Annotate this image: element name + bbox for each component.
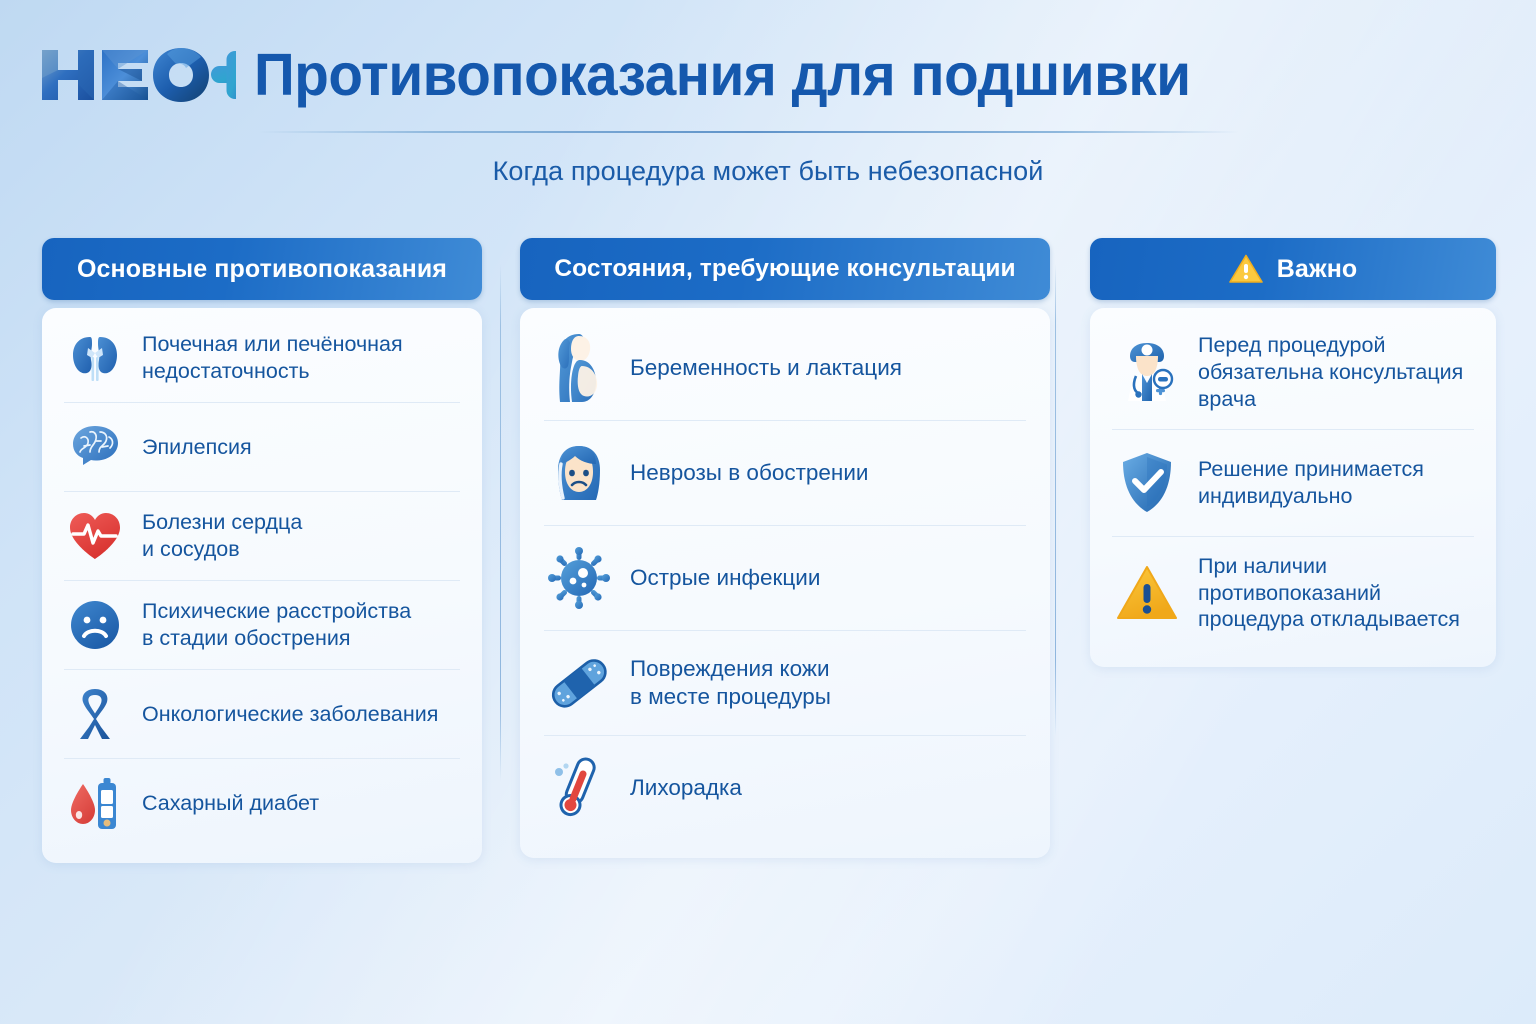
list-item-label: При наличии противопоказаний процедура о…	[1198, 553, 1460, 634]
list-item[interactable]: Острые инфекции	[544, 526, 1026, 631]
logo-letter-n	[42, 50, 94, 100]
virus-icon	[544, 541, 614, 615]
list-item-label: Психические расстройства в стадии обостр…	[142, 598, 411, 652]
list-item[interactable]: Почечная или печёночная недостаточность	[64, 314, 460, 403]
list-item[interactable]: Болезни сердца и сосудов	[64, 492, 460, 581]
logo-letter-e	[102, 50, 148, 100]
shield-check-icon	[1112, 446, 1182, 520]
list-item-label: Сахарный диабет	[142, 790, 319, 817]
list-item[interactable]: Лихорадка	[544, 736, 1026, 840]
column-3-body: Перед процедурой обязательна консультаци…	[1090, 308, 1496, 667]
page-subtitle: Когда процедура может быть небезопасной	[0, 156, 1536, 187]
brain-icon	[64, 416, 126, 478]
title-row: Противопоказания для подшивки	[36, 44, 1230, 106]
column-divider-1	[500, 264, 501, 782]
awareness-ribbon-icon	[64, 683, 126, 745]
list-item-label: Лихорадка	[630, 774, 742, 802]
list-item[interactable]: Неврозы в обострении	[544, 421, 1026, 526]
column-main-contraindications: Основные противопоказания По	[42, 238, 482, 863]
bandage-icon	[544, 646, 614, 720]
column-divider-2	[1055, 264, 1056, 736]
list-item-label: Неврозы в обострении	[630, 459, 869, 487]
columns-container: Основные противопоказания По	[0, 238, 1536, 863]
doctor-icon	[1112, 335, 1182, 409]
list-item[interactable]: Онкологические заболевания	[64, 670, 460, 759]
column-3-header: Важно	[1090, 238, 1496, 300]
title-divider-rule	[258, 131, 1238, 133]
column-2-body: Беременность и лактация	[520, 308, 1050, 858]
column-1-header: Основные противопоказания	[42, 238, 482, 300]
list-item[interactable]: Сахарный диабет	[64, 759, 460, 847]
list-item-label: Беременность и лактация	[630, 354, 902, 382]
neo-plus-logo	[36, 44, 236, 106]
column-consultation-required: Состояния, требующие консультации Береме…	[520, 238, 1050, 858]
list-item[interactable]: Эпилепсия	[64, 403, 460, 492]
list-item[interactable]: Перед процедурой обязательна консультаци…	[1112, 316, 1474, 430]
list-item[interactable]: Психические расстройства в стадии обостр…	[64, 581, 460, 670]
logo-letter-o	[153, 48, 209, 102]
warning-triangle-icon	[1229, 254, 1263, 284]
blood-glucose-meter-icon	[64, 772, 126, 834]
list-item[interactable]: Повреждения кожи в месте процедуры	[544, 631, 1026, 736]
column-1-header-label: Основные противопоказания	[77, 255, 447, 284]
column-important: Важно	[1090, 238, 1496, 667]
page-title: Противопоказания для подшивки	[254, 46, 1191, 105]
list-item-label: Решение принимается индивидуально	[1198, 456, 1424, 510]
column-2-header: Состояния, требующие консультации	[520, 238, 1050, 300]
heart-pulse-icon	[64, 505, 126, 567]
list-item-label: Болезни сердца и сосудов	[142, 509, 302, 563]
list-item[interactable]: При наличии противопоказаний процедура о…	[1112, 537, 1474, 650]
list-item[interactable]: Решение принимается индивидуально	[1112, 430, 1474, 537]
kidneys-icon	[64, 327, 126, 389]
column-3-header-label: Важно	[1277, 255, 1358, 284]
list-item-label: Эпилепсия	[142, 434, 252, 461]
column-2-header-label: Состояния, требующие консультации	[554, 255, 1015, 283]
list-item-label: Повреждения кожи в месте процедуры	[630, 655, 831, 711]
sad-face-icon	[64, 594, 126, 656]
column-1-body: Почечная или печёночная недостаточность	[42, 308, 482, 863]
sad-woman-icon	[544, 436, 614, 510]
list-item-label: Почечная или печёночная недостаточность	[142, 331, 403, 385]
warning-triangle-icon	[1112, 556, 1182, 630]
list-item[interactable]: Беременность и лактация	[544, 316, 1026, 421]
pregnant-woman-icon	[544, 331, 614, 405]
list-item-label: Перед процедурой обязательна консультаци…	[1198, 332, 1463, 413]
list-item-label: Острые инфекции	[630, 564, 820, 592]
page-header: Противопоказания для подшивки Когда проц…	[0, 0, 1536, 210]
logo-plus	[211, 51, 236, 99]
thermometer-icon	[544, 751, 614, 825]
list-item-label: Онкологические заболевания	[142, 701, 438, 728]
